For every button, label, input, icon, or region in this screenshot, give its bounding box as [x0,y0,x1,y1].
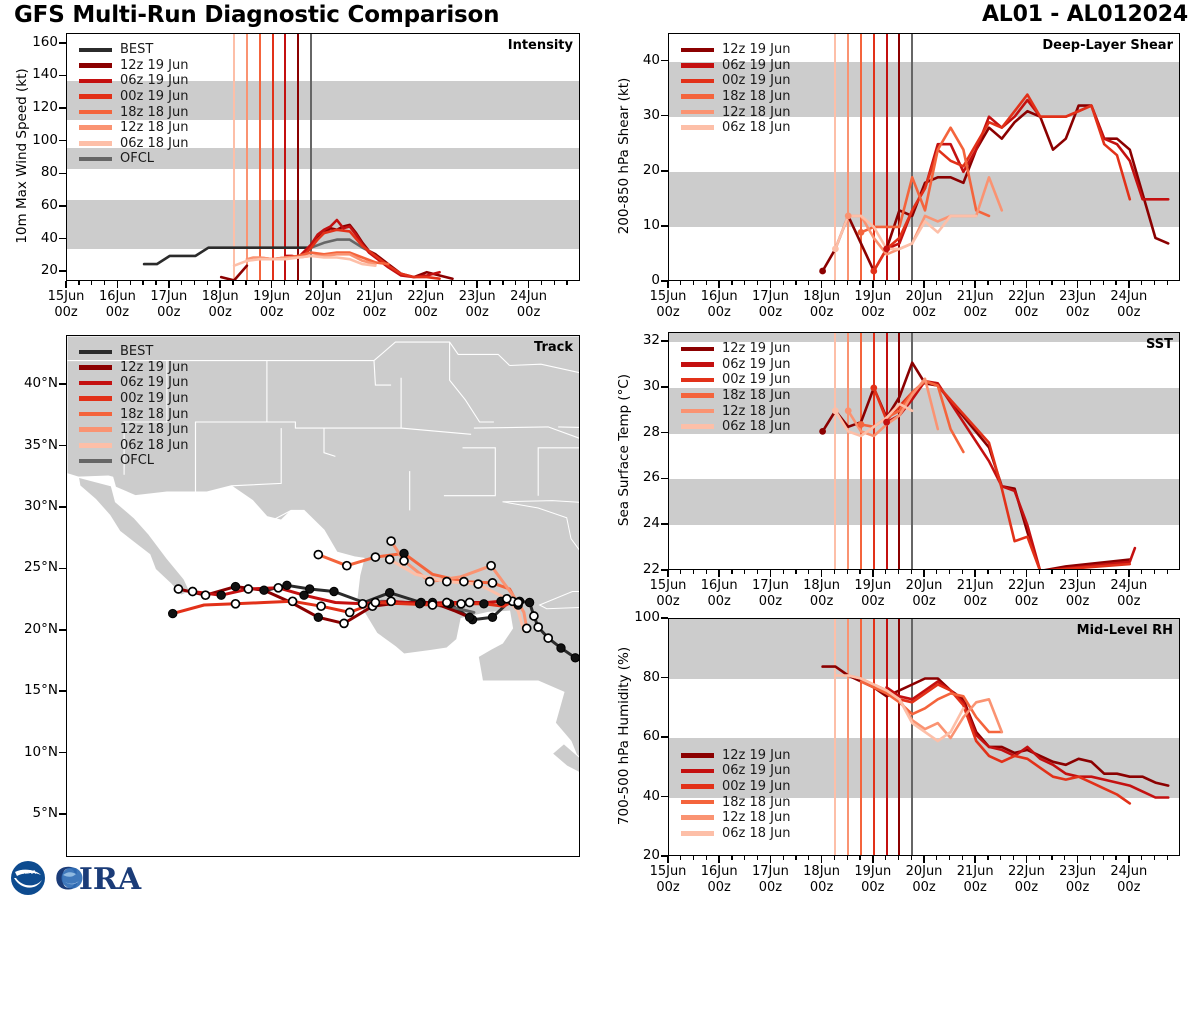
x-tick-hour: 00z [734,880,806,896]
x-tick-date: 24Jun [1093,289,1165,305]
x-tick-mark [667,856,669,863]
legend-color-swatch [681,424,714,429]
legend-item[interactable]: 12z 19 Jun [79,360,189,376]
x-minor-tick [1039,856,1040,860]
logo-group: NOAA CIRA [8,858,198,898]
x-tick-mark [821,281,823,288]
series-line [848,379,938,436]
x-tick-label: 16Jun00z [683,578,755,611]
x-tick-label: 22Jun00z [990,864,1062,897]
legend-item[interactable]: 12z 19 Jun [681,42,791,58]
init-time-line [860,34,862,280]
x-minor-tick [1154,856,1155,860]
legend-color-swatch [79,443,112,448]
legend-item[interactable]: 12z 19 Jun [681,747,791,763]
x-tick-date: 20Jun [287,289,359,305]
track-point-open [274,584,282,592]
map-border-line [431,650,438,689]
lat-tick-mark [59,690,66,692]
x-tick-date: 22Jun [990,578,1062,594]
legend-item[interactable]: 00z 19 Jun [681,73,791,89]
x-minor-tick [207,281,208,285]
init-time-line [246,34,248,280]
x-tick-label: 18Jun00z [786,864,858,897]
x-tick-hour: 00z [837,305,909,321]
legend-label: 06z 18 Jun [120,438,189,453]
y-tick-label: 22 [634,561,660,577]
x-minor-tick [1039,281,1040,285]
legend-item[interactable]: OFCL [79,151,189,167]
x-tick-date: 21Jun [939,864,1011,880]
x-tick-date: 21Jun [939,578,1011,594]
x-tick-mark [1026,856,1028,863]
x-tick-hour: 00z [888,594,960,610]
page-title: GFS Multi-Run Diagnostic Comparison [14,2,499,28]
init-time-line [847,333,849,569]
x-minor-tick [1000,281,1001,285]
panel-shear: Deep-Layer Shear12z 19 Jun06z 19 Jun00z … [0,0,1200,900]
track-point-open [202,591,210,599]
x-tick-hour: 00z [632,594,704,610]
legend-color-swatch [79,94,112,99]
plot-area-rh: Mid-Level RH12z 19 Jun06z 19 Jun00z 19 J… [668,618,1180,856]
x-tick-hour: 00z [1042,880,1114,896]
x-minor-tick [155,281,156,285]
x-tick-date: 19Jun [837,289,909,305]
legend-label: 06z 18 Jun [722,419,791,434]
lat-tick-label: 35°N [8,437,58,453]
x-minor-tick [847,281,848,285]
x-minor-tick [1039,570,1040,574]
legend-color-swatch [681,800,714,805]
init-time-line [847,34,849,280]
legend-item[interactable]: 12z 18 Jun [681,403,791,419]
x-minor-tick [489,281,490,285]
legend-item[interactable]: 06z 19 Jun [681,763,791,779]
y-tick-mark [661,340,668,342]
x-minor-tick [936,570,937,574]
x-tick-date: 19Jun [837,578,909,594]
y-tick-label: 140 [22,66,58,82]
x-tick-mark [872,570,874,577]
legend-label: BEST [120,344,153,359]
x-tick-label: 24Jun00z [1093,864,1165,897]
plot-area-intensity: IntensityBEST12z 19 Jun06z 19 Jun00z 19 … [66,33,580,281]
x-minor-tick [834,856,835,860]
y-tick-mark [59,238,66,240]
x-tick-mark [425,281,427,288]
x-tick-hour: 00z [786,880,858,896]
series-line [874,685,1130,804]
x-tick-date: 15Jun [632,289,704,305]
track-point-open [460,578,468,586]
track-point-filled [525,598,533,606]
x-minor-tick [859,570,860,574]
legend-color-swatch [79,63,112,68]
x-minor-tick [911,856,912,860]
panel-intensity: IntensityBEST12z 19 Jun06z 19 Jun00z 19 … [0,0,1200,900]
x-tick-hour: 00z [939,594,1011,610]
track-line [391,541,527,628]
y-tick-label: 60 [634,728,660,744]
legend-item[interactable]: 18z 18 Jun [681,794,791,810]
legend-label: OFCL [120,453,154,468]
x-minor-tick [1167,856,1168,860]
legend-item[interactable]: 06z 18 Jun [79,136,189,152]
map-border-line [217,496,267,597]
x-tick-mark [476,281,478,288]
x-minor-tick [554,281,555,285]
x-minor-tick [744,570,745,574]
x-minor-tick [783,281,784,285]
land-florida [503,501,581,566]
legend-item[interactable]: 06z 18 Jun [681,825,791,841]
lat-tick-label: 30°N [8,498,58,514]
init-time-line [860,333,862,569]
legend-item[interactable]: BEST [79,42,189,58]
x-tick-hour: 00z [990,880,1062,896]
track-point-open [426,578,434,586]
legend-color-swatch [681,409,714,414]
x-tick-date: 16Jun [81,289,153,305]
x-tick-mark [974,856,976,863]
init-time-line [886,34,888,280]
legend-color-swatch [681,110,714,115]
init-time-line [911,34,913,280]
y-tick-label: 0 [634,272,660,288]
lat-tick-label: 20°N [8,621,58,637]
track-point-filled [217,591,225,599]
legend-item[interactable]: 00z 19 Jun [79,89,189,105]
legend-item[interactable]: OFCL [79,453,189,469]
init-time-line [873,333,875,569]
lat-tick-mark [59,813,66,815]
series-line [887,381,1135,570]
track-point-filled [283,581,291,589]
legend-item[interactable]: 12z 18 Jun [79,422,189,438]
x-minor-tick [541,281,542,285]
x-minor-tick [554,281,555,285]
init-time-line [911,619,913,855]
map-border-line [450,342,494,422]
legend-item[interactable]: 12z 18 Jun [681,104,791,120]
x-minor-tick [1154,570,1155,574]
x-tick-mark [168,281,170,288]
x-minor-tick [731,856,732,860]
legend-color-swatch [79,381,112,386]
x-minor-tick [757,281,758,285]
panel-title-track: Track [534,340,573,355]
x-tick-label: 17Jun00z [133,289,205,322]
map-border-line [347,633,377,661]
x-minor-tick [1167,281,1168,285]
x-tick-hour: 00z [236,305,308,321]
track-point-filled [300,591,308,599]
map-layer [67,336,580,857]
x-minor-tick [757,856,758,860]
legend-item[interactable]: 06z 18 Jun [681,419,791,435]
track-point-filled [465,613,473,621]
track-point-open [174,585,182,593]
legend-label: 12z 19 Jun [722,341,791,356]
x-minor-tick [936,281,937,285]
map-border-line [331,563,360,579]
track-point-filled [330,587,338,595]
noaa-logo: NOAA [11,861,45,895]
y-tick-mark [59,75,66,77]
legend-item[interactable]: 00z 19 Jun [681,779,791,795]
init-time-line [834,619,836,855]
series-line [273,230,440,279]
series-layer-shear [669,34,1180,281]
x-minor-tick [859,281,860,285]
x-minor-tick [438,281,439,285]
x-tick-label: 19Jun00z [236,289,308,322]
track-point-open [443,599,451,607]
x-minor-tick [78,281,79,285]
legend-color-swatch [79,125,112,130]
x-tick-mark [923,856,925,863]
shaded-band [67,200,579,249]
x-tick-hour: 00z [1042,305,1114,321]
x-minor-tick [1167,570,1168,574]
legend-label: 00z 19 Jun [722,73,791,88]
x-tick-date: 15Jun [632,864,704,880]
legend-label: BEST [120,42,153,57]
y-tick-label: 10 [634,217,660,233]
init-point-marker [845,213,852,220]
track-point-open [400,557,408,565]
track-point-open [343,562,351,570]
x-tick-hour: 00z [338,305,410,321]
legend-item[interactable]: 12z 18 Jun [79,120,189,136]
legend-item[interactable]: 06z 19 Jun [681,58,791,74]
legend-label: OFCL [120,151,154,166]
x-tick-hour: 00z [990,305,1062,321]
legend-color-swatch [681,125,714,130]
init-point-marker [883,246,890,253]
x-tick-mark [821,856,823,863]
legend-item[interactable]: 06z 19 Jun [79,73,189,89]
series-layer-rh [669,619,1180,856]
x-minor-tick [258,281,259,285]
track-point-open [346,608,354,616]
x-minor-tick [744,281,745,285]
legend-color-swatch [681,94,714,99]
legend-label: 06z 18 Jun [120,136,189,151]
track-line [390,560,524,631]
legend-label: 00z 19 Jun [120,391,189,406]
legend-intensity: BEST12z 19 Jun06z 19 Jun00z 19 Jun18z 18… [79,42,189,167]
shaded-band [669,62,1179,117]
legend-label: 12z 18 Jun [722,404,791,419]
legend-item[interactable]: 18z 18 Jun [681,89,791,105]
x-tick-label: 18Jun00z [786,289,858,322]
legend-item[interactable]: 06z 18 Jun [681,120,791,136]
y-tick-mark [661,432,668,434]
legend-item[interactable]: 18z 18 Jun [79,104,189,120]
x-minor-tick [1154,856,1155,860]
x-tick-label: 17Jun00z [734,864,806,897]
x-minor-tick [680,856,681,860]
x-tick-hour: 00z [837,880,909,896]
x-tick-label: 24Jun00z [493,289,565,322]
y-tick-mark [661,478,668,480]
x-minor-tick [515,281,516,285]
x-minor-tick [962,281,963,285]
x-minor-tick [1141,856,1142,860]
track-point-open [340,619,348,627]
x-minor-tick [795,570,796,574]
x-tick-mark [872,856,874,863]
legend-item[interactable]: 00z 19 Jun [79,391,189,407]
x-tick-hour: 00z [734,305,806,321]
y-tick-mark [59,270,66,272]
x-minor-tick [130,281,131,285]
x-tick-date: 23Jun [441,289,513,305]
x-tick-label: 21Jun00z [939,864,1011,897]
x-tick-mark [974,281,976,288]
x-minor-tick [1000,856,1001,860]
legend-color-swatch [681,393,714,398]
legend-item[interactable]: 00z 19 Jun [681,372,791,388]
legend-item[interactable]: 18z 18 Jun [681,388,791,404]
x-tick-label: 16Jun00z [81,289,153,322]
y-tick-label: 40 [22,230,58,246]
y-tick-label: 20 [22,262,58,278]
legend-shear: 12z 19 Jun06z 19 Jun00z 19 Jun18z 18 Jun… [681,42,791,136]
x-minor-tick [104,281,105,285]
x-minor-tick [680,281,681,285]
x-tick-date: 17Jun [734,864,806,880]
legend-label: 12z 18 Jun [722,810,791,825]
y-tick-mark [661,796,668,798]
legend-label: 18z 18 Jun [722,388,791,403]
x-minor-tick [1064,570,1065,574]
map-border-line [267,361,391,386]
x-minor-tick [566,281,567,285]
x-tick-mark [117,281,119,288]
x-minor-tick [284,281,285,285]
init-point-marker [819,268,826,275]
init-time-line [898,34,900,280]
track-point-open [544,634,552,642]
legend-item[interactable]: 06z 18 Jun [79,438,189,454]
legend-item[interactable]: 12z 19 Jun [681,341,791,357]
map-border-line [231,428,281,486]
land-baja-california [78,477,189,595]
init-point-marker [832,246,839,253]
x-tick-label: 18Jun00z [786,578,858,611]
x-minor-tick [297,281,298,285]
legend-item[interactable]: 12z 18 Jun [681,810,791,826]
y-tick-mark [59,173,66,175]
legend-label: 18z 18 Jun [722,795,791,810]
x-minor-tick [91,281,92,285]
track-point-filled [231,582,239,590]
y-tick-mark [661,523,668,525]
lat-tick-mark [59,383,66,385]
x-tick-mark [1077,570,1079,577]
legend-label: 12z 18 Jun [722,105,791,120]
x-minor-tick [949,281,950,285]
track-point-filled [416,600,424,608]
map-border-line [281,600,357,645]
track-line [178,587,469,624]
y-axis-label-intensity: 10m Max Wind Speed (kt) [14,0,30,456]
x-tick-label: 15Jun00z [632,289,704,322]
track-point-open [534,623,542,631]
x-tick-date: 18Jun [184,289,256,305]
shaded-band [67,81,579,120]
map-border-line [167,361,267,492]
x-minor-tick [1103,856,1104,860]
x-tick-label: 19Jun00z [837,864,909,897]
legend-color-swatch [681,784,714,789]
shaded-band [669,738,1179,798]
series-line [298,225,452,279]
x-tick-label: 22Jun00z [990,289,1062,322]
legend-color-swatch [79,459,112,464]
init-time-line [886,333,888,569]
track-point-open [359,600,367,608]
x-tick-label: 17Jun00z [734,578,806,611]
x-minor-tick [795,856,796,860]
x-tick-hour: 00z [30,305,102,321]
x-minor-tick [1000,570,1001,574]
x-minor-tick [348,281,349,285]
legend-item[interactable]: 06z 19 Jun [681,357,791,373]
legend-item[interactable]: 18z 18 Jun [79,406,189,422]
init-time-line [873,34,875,280]
track-point-filled [468,616,476,624]
x-tick-hour: 00z [734,594,806,610]
y-tick-mark [661,280,668,282]
x-tick-date: 21Jun [338,289,410,305]
x-minor-tick [1013,856,1014,860]
x-tick-mark [821,570,823,577]
track-point-open [387,537,395,545]
x-tick-mark [1128,570,1130,577]
legend-item[interactable]: 12z 19 Jun [79,58,189,74]
legend-item[interactable]: 06z 19 Jun [79,375,189,391]
panel-title-rh: Mid-Level RH [1077,623,1173,638]
init-time-line [886,619,888,855]
x-tick-label: 23Jun00z [441,289,513,322]
y-tick-mark [661,677,668,679]
x-tick-mark [1128,856,1130,863]
y-tick-label: 100 [22,132,58,148]
init-time-line [860,619,862,855]
x-minor-tick [911,281,912,285]
x-tick-label: 22Jun00z [990,578,1062,611]
x-tick-date: 20Jun [888,578,960,594]
legend-item[interactable]: BEST [79,344,189,360]
track-line [318,553,518,605]
legend-color-swatch [681,63,714,68]
legend-color-swatch [681,831,714,836]
init-time-line [898,619,900,855]
track-point-open [503,595,511,603]
x-tick-mark [974,570,976,577]
map-border-line [538,448,580,496]
x-minor-tick [706,856,707,860]
x-minor-tick [898,570,899,574]
shaded-band [669,619,1179,679]
series-layer-sst [669,333,1180,570]
series-line [861,381,963,452]
track-point-filled [314,613,322,621]
